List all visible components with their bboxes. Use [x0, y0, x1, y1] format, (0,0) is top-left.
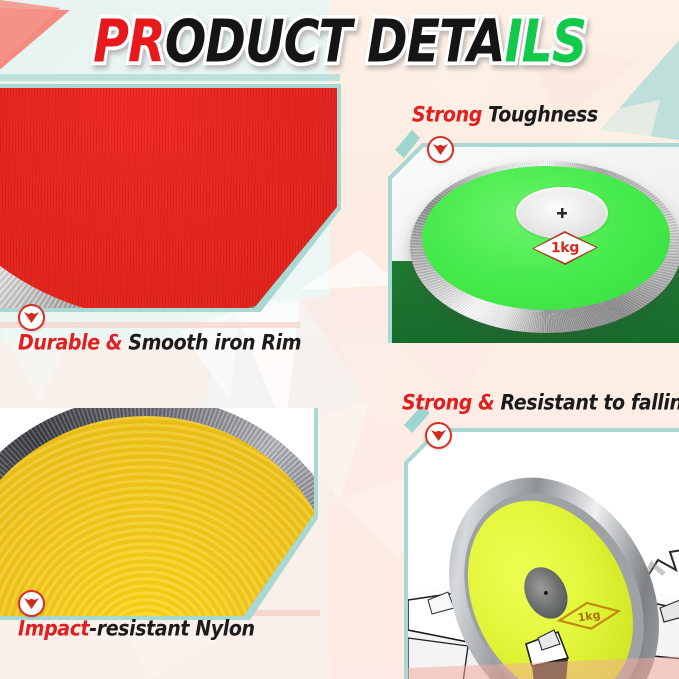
caption-iron-rim: Durable & Smooth iron Rim	[18, 332, 301, 354]
chevron-down-icon	[23, 311, 40, 324]
chevron-down-badge-icon-iron-rim[interactable]	[18, 304, 45, 331]
green-discus-scene: 1kg	[392, 147, 679, 343]
panel-photo	[0, 408, 314, 616]
caption-resist-rest: Resistant to falling	[494, 391, 679, 416]
feature-photo-toughness: 1kg	[388, 143, 679, 343]
cracked-ground-scene: 1kg	[408, 432, 679, 679]
title-part-red: PR	[93, 8, 165, 76]
chevron-down-badge-icon-resistant[interactable]	[425, 422, 452, 449]
chevron-down-icon	[432, 143, 449, 156]
panel-photo: 1kg	[392, 147, 679, 343]
caption-toughness-rest: Toughness	[482, 103, 598, 128]
chevron-down-icon	[430, 429, 447, 442]
diamond-fill: 1kg	[534, 232, 597, 263]
caption-nylon: Impact-resistant Nylon	[18, 618, 255, 640]
weight-label-diamond: 1kg	[532, 230, 599, 265]
caption-toughness-accent: Strong	[412, 103, 482, 128]
caption-nylon-rest: -resistant Nylon	[89, 617, 254, 642]
feature-photo-resistant-to-falling: 1kg	[404, 428, 679, 679]
feature-photo-nylon	[0, 408, 318, 620]
chevron-down-icon	[23, 597, 40, 610]
caption-toughness: Strong Toughness	[412, 104, 598, 126]
title-part-black: ODUCT DETA	[165, 8, 505, 76]
caption-resistant-to-falling: Strong & Resistant to falling	[402, 392, 679, 414]
panel-photo: 1kg	[408, 432, 679, 679]
page-title: PRODUCT DETAILS	[0, 6, 679, 78]
weight-label-text: 1kg	[551, 240, 579, 256]
caption-rim-rest: Smooth iron Rim	[122, 331, 301, 356]
caption-rim-accent: Durable &	[18, 331, 122, 356]
title-part-green: ILS	[504, 8, 586, 76]
chevron-down-badge-icon-nylon[interactable]	[18, 590, 45, 617]
chevron-down-badge-icon-toughness[interactable]	[427, 136, 454, 163]
caption-resist-accent: Strong &	[402, 391, 494, 416]
caption-nylon-accent: Impact	[18, 617, 89, 642]
